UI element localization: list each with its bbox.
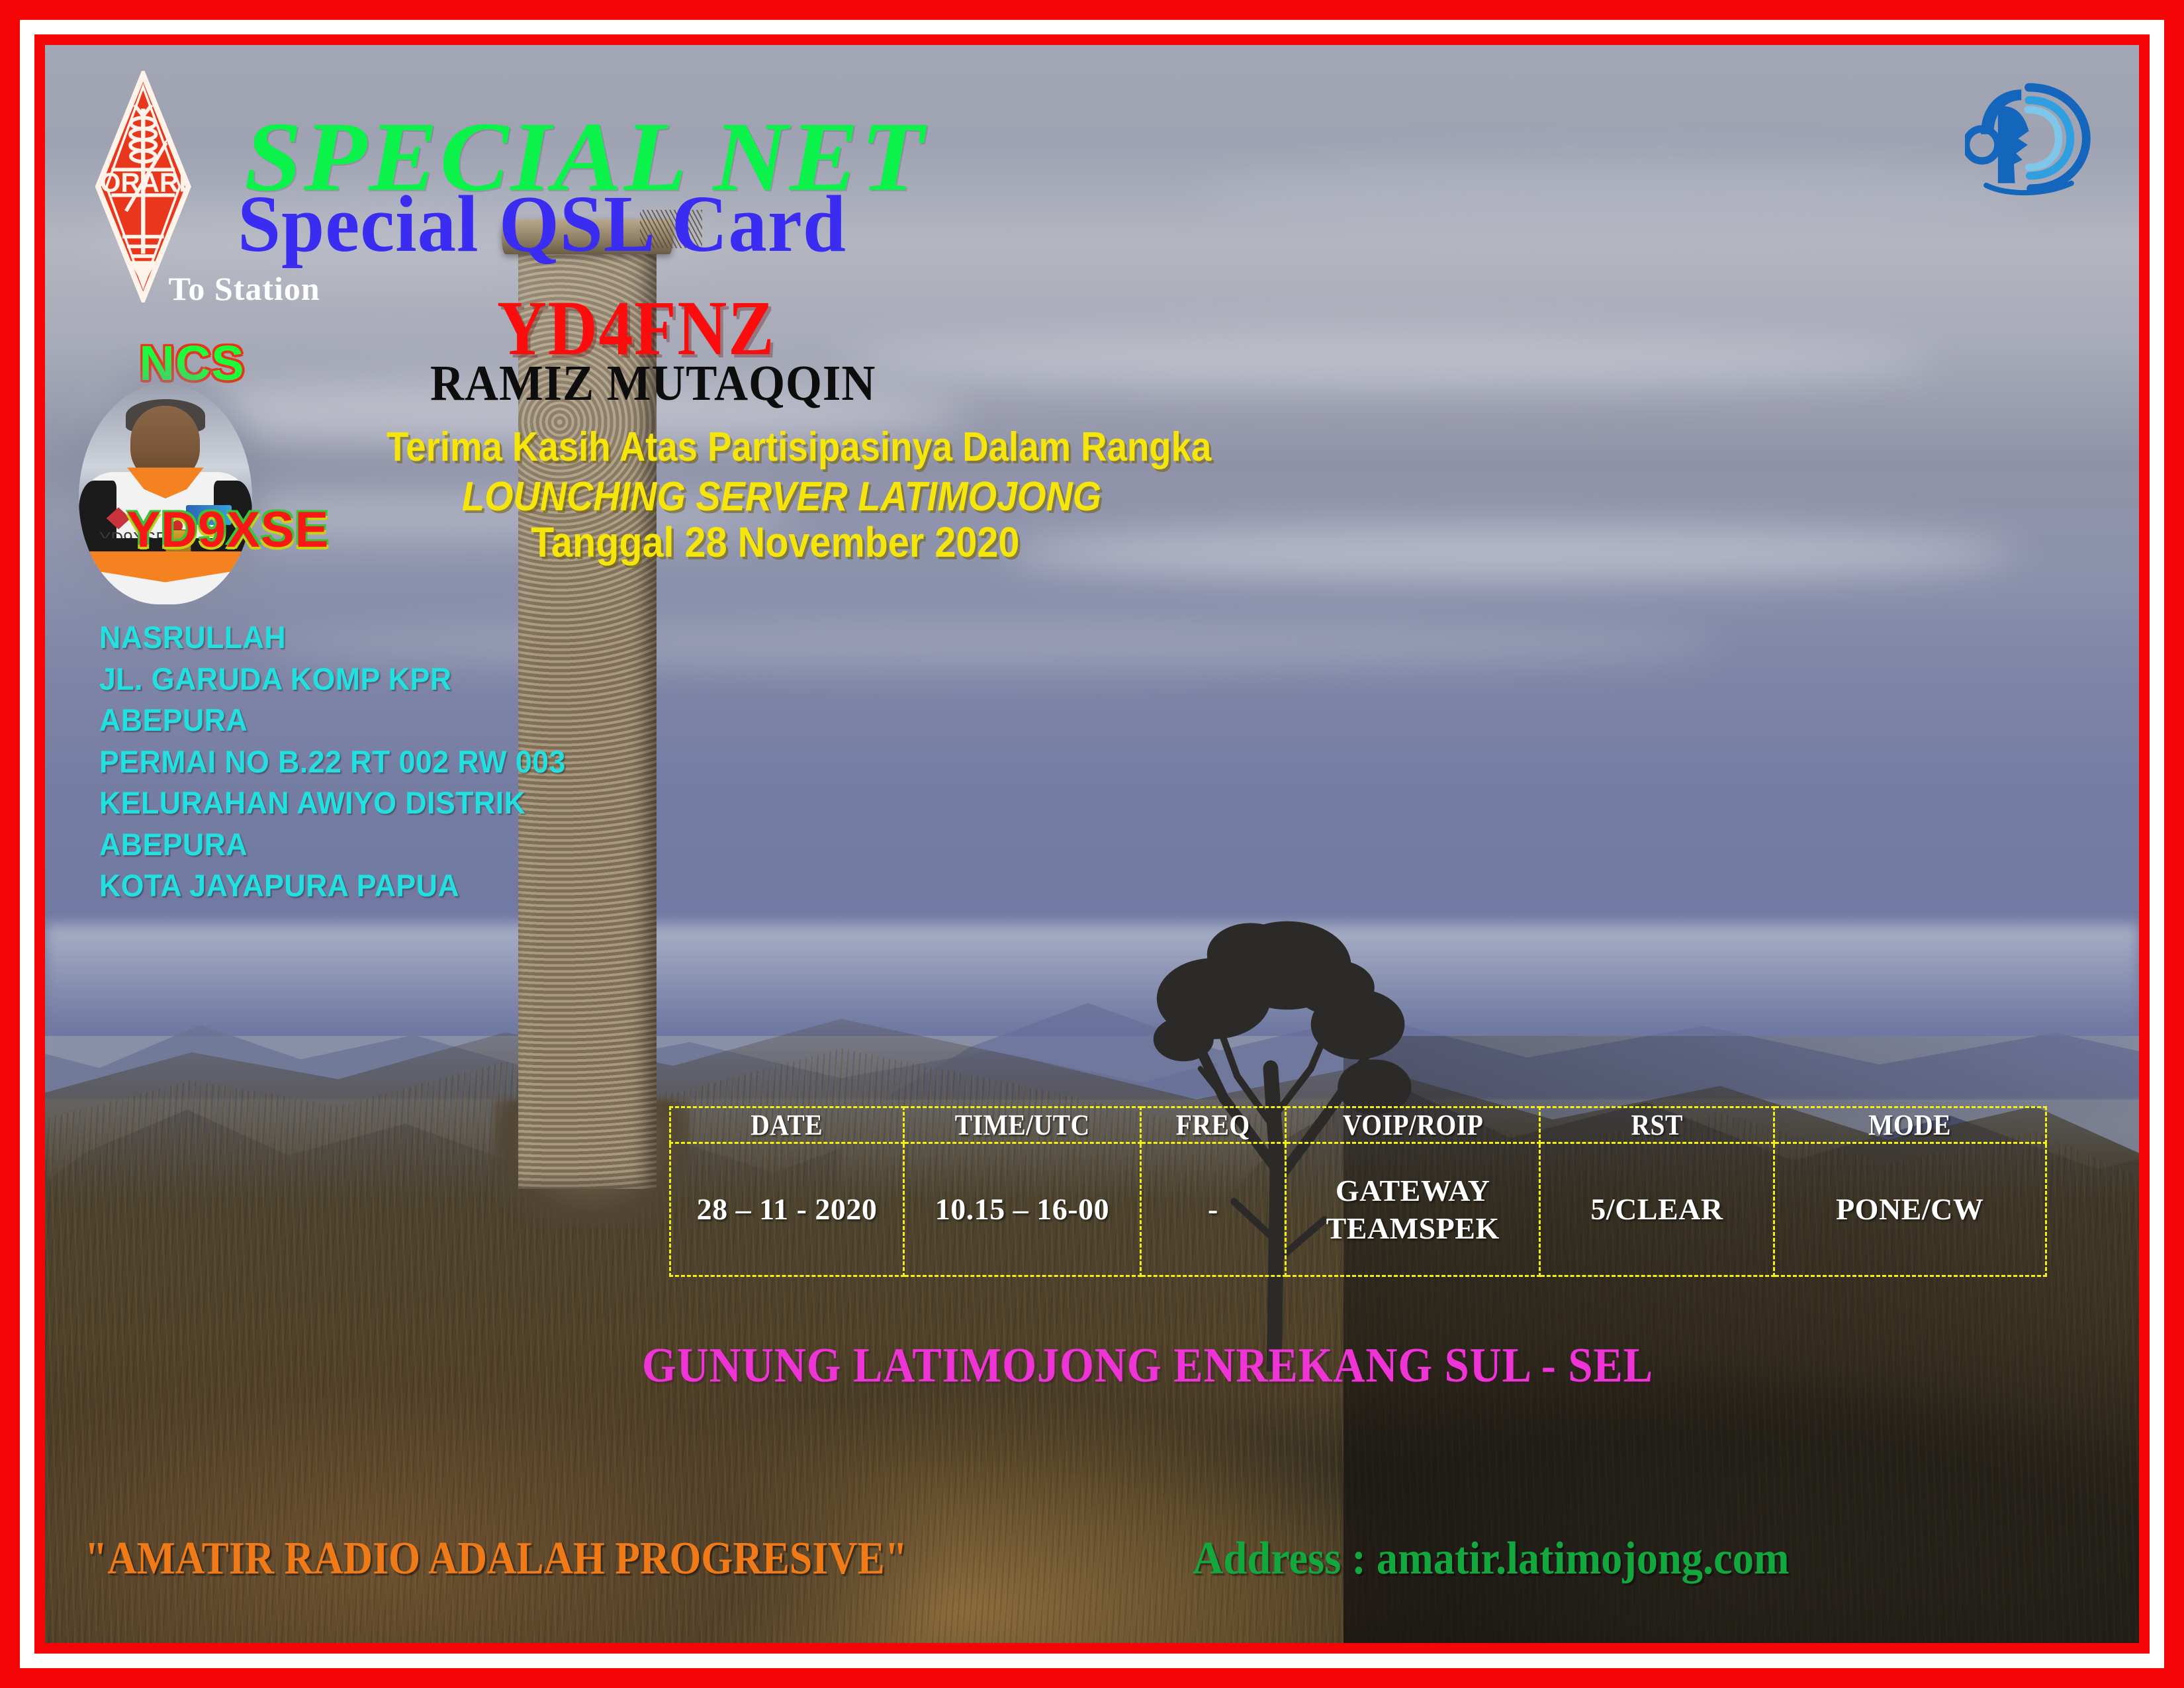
cloud-band (841, 333, 1929, 387)
slogan-text: "AMATIR RADIO ADALAH PROGRESIVE" (85, 1536, 907, 1582)
web-address-text: Address : amatir.latimojong.com (1193, 1536, 1790, 1582)
event-line: LOUNCHING SERVER LATIMOJONG (462, 477, 1101, 518)
ncs-label: NCS (139, 339, 244, 388)
cloud-band (1197, 157, 2034, 237)
operator-name: RAMIZ MUTAQQIN (430, 358, 876, 408)
address-line: ABEPURA (99, 700, 566, 741)
cell-voip: GATEWAY TEAMSPEK (1286, 1143, 1540, 1276)
mailing-address: NASRULLAH JL. GARUDA KOMP KPR ABEPURA PE… (99, 617, 566, 907)
column-header-date: DATE (682, 1107, 892, 1143)
column-header-time: TIME/UTC (916, 1107, 1129, 1143)
location-line: GUNUNG LATIMOJONG ENREKANG SUL - SEL (642, 1341, 1653, 1390)
cell-date: 28 – 11 - 2020 (670, 1143, 903, 1276)
event-date-line: Tanggal 28 November 2020 (531, 521, 1019, 563)
orari-logo-icon: ORARI (89, 71, 198, 303)
address-line: PERMAI NO B.22 RT 002 RW 003 (99, 741, 566, 783)
orari-logo-text: ORARI (100, 167, 187, 197)
background-photo: ORARI SPECIAL NET Spe (45, 45, 2139, 1643)
column-header-voip: VOIP/ROIP (1298, 1107, 1527, 1143)
column-header-mode: MODE (1788, 1107, 2032, 1143)
to-station-label: To Station (169, 272, 320, 305)
qsl-card: ORARI SPECIAL NET Spe (0, 0, 2184, 1688)
column-header-freq: FREQ (1148, 1107, 1278, 1143)
column-header-rst: RST (1551, 1107, 1762, 1143)
address-line: JL. GARUDA KOMP KPR (99, 659, 566, 700)
headset-profile-logo-icon (1965, 66, 2093, 209)
qso-details-table: DATE TIME/UTC FREQ VOIP/ROIP RST MODE 28… (669, 1106, 2047, 1277)
cell-rst: 5/CLEAR (1540, 1143, 1774, 1276)
address-line: ABEPURA (99, 824, 566, 866)
address-line: KOTA JAYAPURA PAPUA (99, 865, 566, 907)
table-row: 28 – 11 - 2020 10.15 – 16-00 - GATEWAY T… (670, 1143, 2046, 1276)
ncs-operator-photo: YD9XSE (79, 384, 253, 604)
cell-mode: PONE/CW (1774, 1143, 2046, 1276)
address-line: NASRULLAH (99, 617, 566, 659)
ncs-callsign: YD9XSE (126, 505, 329, 555)
cell-freq: - (1140, 1143, 1285, 1276)
address-line: KELURAHAN AWIYO DISTRIK (99, 782, 566, 824)
cloud-band (1008, 524, 2013, 582)
page-subtitle: Special QSL Card (238, 184, 846, 265)
cell-time: 10.15 – 16-00 (904, 1143, 1140, 1276)
table-header-row: DATE TIME/UTC FREQ VOIP/ROIP RST MODE (670, 1107, 2046, 1143)
thanks-line: Terima Kasih Atas Partisipasinya Dalam R… (387, 427, 1211, 468)
